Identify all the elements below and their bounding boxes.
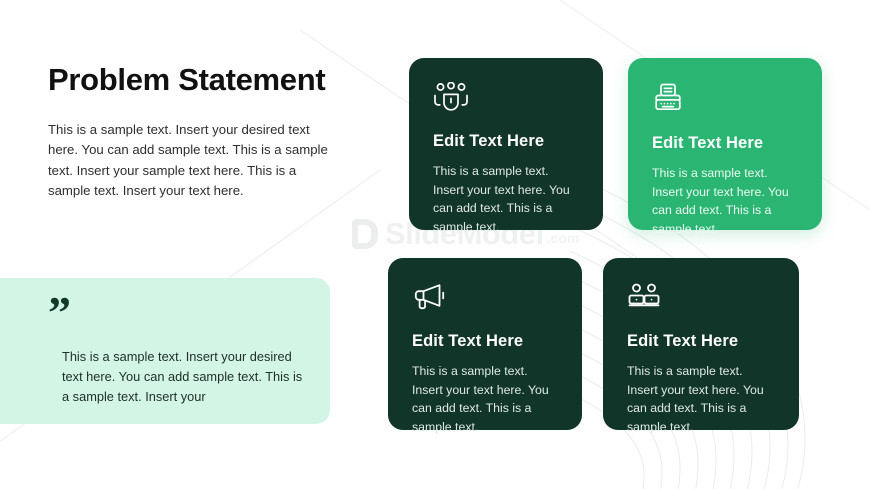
card-megaphone[interactable]: Edit Text Here This is a sample text. In… bbox=[388, 258, 582, 430]
megaphone-icon bbox=[412, 282, 448, 312]
card-title: Edit Text Here bbox=[652, 134, 798, 153]
card-body: This is a sample text. Insert your text … bbox=[433, 162, 579, 237]
card-body: This is a sample text. Insert your text … bbox=[412, 362, 558, 437]
quote-text: This is a sample text. Insert your desir… bbox=[62, 347, 310, 408]
card-typewriter[interactable]: Edit Text Here This is a sample text. In… bbox=[628, 58, 822, 230]
typewriter-icon bbox=[652, 82, 684, 114]
card-people-group[interactable]: Edit Text Here This is a sample text. In… bbox=[409, 58, 603, 230]
card-body: This is a sample text. Insert your text … bbox=[627, 362, 775, 437]
card-title: Edit Text Here bbox=[412, 332, 558, 351]
card-title: Edit Text Here bbox=[627, 332, 775, 351]
slide-canvas: SlideModel .com Problem Statement This i… bbox=[0, 0, 870, 489]
people-group-icon bbox=[433, 82, 469, 112]
card-body: This is a sample text. Insert your text … bbox=[652, 164, 798, 239]
two-people-icon bbox=[627, 282, 661, 312]
quotation-mark-icon: ” bbox=[48, 290, 71, 336]
intro-paragraph: This is a sample text. Insert your desir… bbox=[48, 120, 333, 201]
card-title: Edit Text Here bbox=[433, 132, 579, 151]
slidemodel-logo-icon bbox=[352, 219, 378, 249]
left-content-column: Problem Statement This is a sample text.… bbox=[48, 62, 348, 201]
card-two-people[interactable]: Edit Text Here This is a sample text. In… bbox=[603, 258, 799, 430]
page-title: Problem Statement bbox=[48, 62, 348, 98]
